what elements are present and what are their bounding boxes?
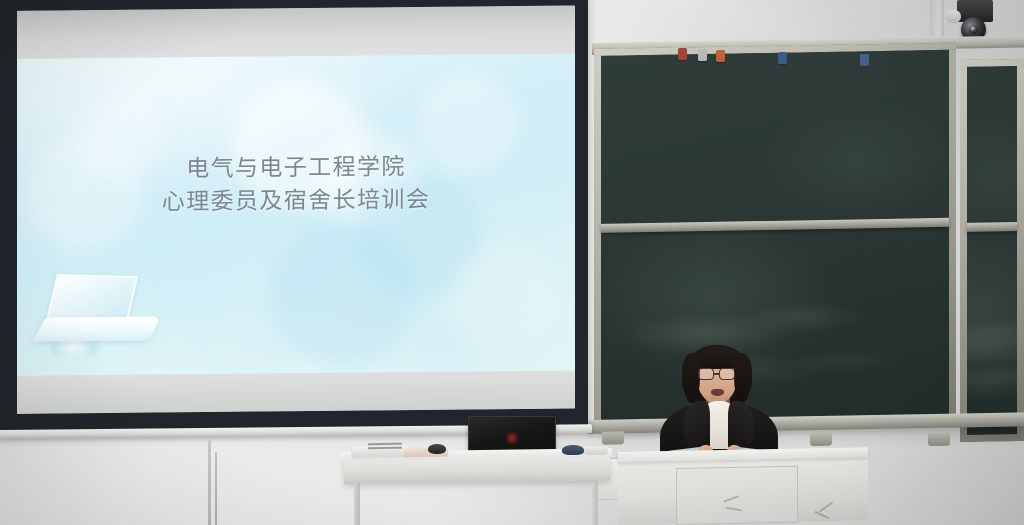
chalkboard-clip-blue[interactable]	[778, 52, 787, 64]
chalkboard-clip-red[interactable]	[678, 48, 687, 60]
classroom-scene: 电气与电子工程学院 心理委员及宿舍长培训会	[0, 0, 1024, 525]
presenter-coat-collar-right	[728, 401, 754, 449]
cloth[interactable]	[584, 446, 608, 455]
rail-bracket	[810, 433, 832, 446]
screen-blank-band-bottom	[17, 370, 575, 413]
lectern-leg	[592, 482, 598, 525]
keyboard-tray[interactable]	[352, 446, 408, 457]
eyeglass-lens-left	[698, 368, 714, 380]
chalk-smudge-side	[967, 66, 1017, 435]
presenter-coat-collar-left	[684, 401, 710, 449]
rail-bracket	[928, 433, 950, 446]
rail-bracket	[602, 431, 624, 444]
projected-slide: 电气与电子工程学院 心理委员及宿舍长培训会	[17, 53, 575, 375]
slide-title: 电气与电子工程学院 心理委员及宿舍长培训会	[17, 149, 575, 220]
chalkboard-clip-blue-2[interactable]	[860, 54, 869, 66]
slide-laptop-base	[33, 316, 162, 341]
chalkboard-clip-silver[interactable]	[698, 49, 707, 61]
screen-cable-secondary	[215, 452, 217, 525]
camera-lens-icon	[969, 25, 978, 34]
lectern-with-laptop[interactable]	[340, 452, 612, 525]
laptop-clipart-icon	[39, 274, 157, 351]
screen-blank-band-top	[17, 5, 575, 58]
screen-cable	[208, 438, 211, 525]
presenter-mouth	[711, 389, 724, 396]
pull-down-projection-screen: 电气与电子工程学院 心理委员及宿舍长培训会	[0, 0, 588, 436]
eyeglasses-icon	[698, 368, 738, 380]
projection-screen-surface: 电气与电子工程学院 心理委员及宿舍长培训会	[17, 5, 575, 413]
keyboard-tray-line	[368, 447, 402, 450]
eyeglass-lens-right	[719, 368, 735, 380]
camera-bracket	[945, 10, 961, 23]
lectern-front-panel	[344, 456, 610, 484]
mouse[interactable]	[428, 444, 446, 454]
keyboard-tray-line	[368, 443, 402, 446]
teaching-desk[interactable]	[618, 452, 868, 525]
chalkboard-clip-orange[interactable]	[716, 50, 725, 62]
blue-object[interactable]	[562, 445, 584, 455]
laptop-logo-icon	[506, 432, 519, 445]
lectern-leg	[354, 482, 360, 525]
chalkboard-side-panel	[960, 59, 1024, 442]
chalkboard-mid-rail-side	[967, 222, 1017, 232]
